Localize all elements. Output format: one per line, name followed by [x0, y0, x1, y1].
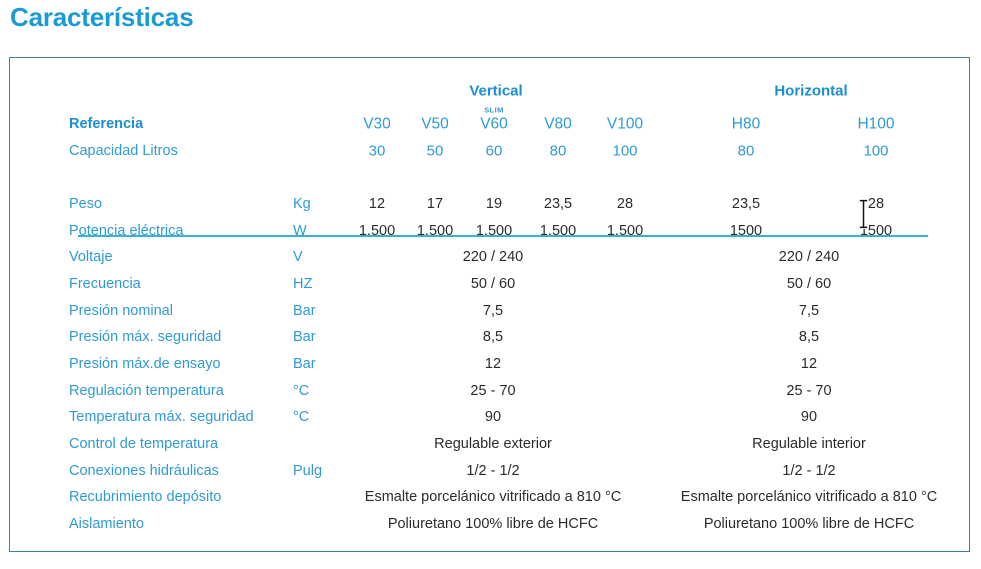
value-aislamiento-vertical: Poliuretano 100% libre de HCFC: [388, 517, 598, 532]
row-label-recubrimiento-deposito: Recubrimiento depósito: [69, 490, 221, 505]
value-temperatura-max-seguridad-horizontal: 90: [801, 410, 817, 425]
value-peso-v100: 28: [617, 197, 633, 212]
column-header-h80: H80: [732, 116, 760, 132]
row-label-conexiones-hidraulicas: Conexiones hidráulicas: [69, 463, 219, 478]
row-label-potencia-electrica: Potencia eléctrica: [69, 223, 183, 238]
value-recubrimiento-deposito-vertical: Esmalte porcelánico vitrificado a 810 °C: [365, 490, 621, 505]
column-header-v60: V60: [480, 116, 508, 132]
row-label-capacidad: Capacidad Litros: [69, 144, 178, 159]
group-header-vertical: Vertical: [469, 84, 522, 99]
row-unit-temperatura-max-seguridad: °C: [293, 410, 309, 425]
capacity-value-h100: 100: [863, 144, 888, 159]
value-conexiones-hidraulicas-horizontal: 1/2 - 1/2: [782, 463, 835, 478]
row-unit-frecuencia: HZ: [293, 277, 312, 292]
column-header-v100: V100: [607, 116, 643, 132]
value-peso-h100: 28: [868, 197, 884, 212]
row-unit-potencia-electrica: W: [293, 223, 307, 238]
value-control-de-temperatura-vertical: Regulable exterior: [434, 437, 552, 452]
value-recubrimiento-deposito-horizontal: Esmalte porcelánico vitrificado a 810 °C: [681, 490, 937, 505]
value-regulacion-temperatura-horizontal: 25 - 70: [786, 383, 831, 398]
row-unit-presion-max-seguridad: Bar: [293, 330, 316, 345]
value-peso-v60: 19: [486, 197, 502, 212]
value-voltaje-horizontal: 220 / 240: [779, 250, 839, 265]
value-potencia-electrica-v80: 1.500: [540, 223, 576, 238]
slim-tag-v60: SLIM: [484, 106, 504, 115]
row-unit-conexiones-hidraulicas: Pulg: [293, 463, 322, 478]
row-label-control-de-temperatura: Control de temperatura: [69, 437, 218, 452]
page-title: Características: [10, 2, 193, 33]
value-presion-nominal-vertical: 7,5: [483, 303, 503, 318]
value-potencia-electrica-v50: 1.500: [417, 223, 453, 238]
value-control-de-temperatura-horizontal: Regulable interior: [752, 437, 866, 452]
row-label-regulacion-temperatura: Regulación temperatura: [69, 383, 224, 398]
value-presion-max-de-ensayo-horizontal: 12: [801, 357, 817, 372]
capacity-value-v30: 30: [369, 144, 386, 159]
row-label-peso: Peso: [69, 197, 102, 212]
value-presion-max-de-ensayo-vertical: 12: [485, 357, 501, 372]
row-unit-presion-max-de-ensayo: Bar: [293, 357, 316, 372]
value-presion-max-seguridad-horizontal: 8,5: [799, 330, 819, 345]
capacity-value-h80: 80: [738, 144, 755, 159]
row-label-frecuencia: Frecuencia: [69, 277, 141, 292]
value-presion-nominal-horizontal: 7,5: [799, 303, 819, 318]
row-unit-voltaje: V: [293, 250, 303, 265]
value-temperatura-max-seguridad-vertical: 90: [485, 410, 501, 425]
row-label-presion-max-de-ensayo: Presión máx.de ensayo: [69, 357, 221, 372]
row-unit-presion-nominal: Bar: [293, 303, 316, 318]
value-aislamiento-horizontal: Poliuretano 100% libre de HCFC: [704, 517, 914, 532]
row-unit-regulacion-temperatura: °C: [293, 383, 309, 398]
value-voltaje-vertical: 220 / 240: [463, 250, 523, 265]
value-frecuencia-horizontal: 50 / 60: [787, 277, 831, 292]
column-header-v80: V80: [544, 116, 572, 132]
value-potencia-electrica-h100: 1500: [860, 223, 892, 238]
column-header-v50: V50: [421, 116, 449, 132]
specifications-panel: VerticalHorizontalReferenciaCapacidad Li…: [9, 57, 970, 552]
row-label-aislamiento: Aislamiento: [69, 517, 144, 532]
capacity-value-v80: 80: [550, 144, 567, 159]
column-header-h100: H100: [857, 116, 894, 132]
column-header-v30: V30: [363, 116, 391, 132]
value-potencia-electrica-v30: 1.500: [359, 223, 395, 238]
capacity-value-v60: 60: [486, 144, 503, 159]
value-peso-v80: 23,5: [544, 197, 572, 212]
row-label-referencia: Referencia: [69, 117, 143, 132]
value-peso-h80: 23,5: [732, 197, 760, 212]
row-label-voltaje: Voltaje: [69, 250, 113, 265]
value-peso-v50: 17: [427, 197, 443, 212]
row-label-presion-nominal: Presión nominal: [69, 303, 173, 318]
capacity-value-v100: 100: [612, 144, 637, 159]
value-frecuencia-vertical: 50 / 60: [471, 277, 515, 292]
group-header-horizontal: Horizontal: [774, 84, 847, 99]
value-potencia-electrica-v60: 1.500: [476, 223, 512, 238]
value-conexiones-hidraulicas-vertical: 1/2 - 1/2: [466, 463, 519, 478]
value-regulacion-temperatura-vertical: 25 - 70: [470, 383, 515, 398]
row-label-temperatura-max-seguridad: Temperatura máx. seguridad: [69, 410, 254, 425]
value-potencia-electrica-v100: 1.500: [607, 223, 643, 238]
value-potencia-electrica-h80: 1500: [730, 223, 762, 238]
row-label-presion-max-seguridad: Presión máx. seguridad: [69, 330, 221, 345]
value-peso-v30: 12: [369, 197, 385, 212]
row-unit-peso: Kg: [293, 197, 311, 212]
value-presion-max-seguridad-vertical: 8,5: [483, 330, 503, 345]
capacity-value-v50: 50: [427, 144, 444, 159]
